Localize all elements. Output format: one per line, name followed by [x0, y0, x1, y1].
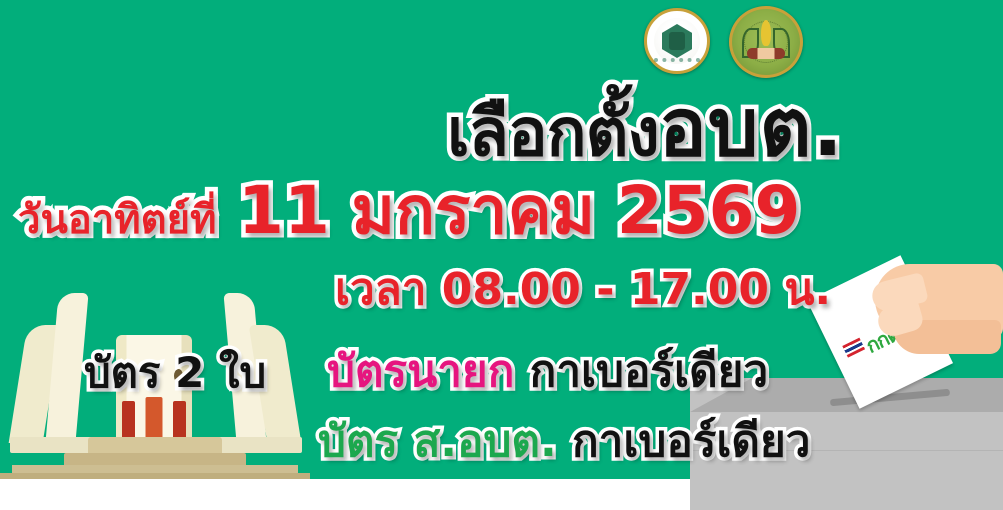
date-day-label: วันอาทิตย์ที่ — [18, 197, 216, 243]
election-poster: กกต เลือกตั้งอบต. วันอาทิตย์ที่ 11 มกราค… — [0, 0, 1003, 510]
time-unit: น. — [784, 264, 831, 315]
hand-illustration — [872, 258, 1003, 370]
monument-wing-base-left — [10, 437, 94, 453]
member-ballot-row: บัตร ส.อบต. กาเบอร์เดียว — [318, 420, 810, 464]
time-range: 08.00 - 17.00 — [442, 264, 769, 315]
mayor-ballot-row: บัตรนายก กาเบอร์เดียว — [327, 350, 768, 394]
election-commission-seal-icon — [644, 8, 710, 74]
headline-prefix: เลือกตั้ง — [447, 94, 659, 171]
member-ballot-instruction: กาเบอร์เดียว — [572, 416, 810, 467]
monument-door-center — [146, 397, 163, 439]
member-ballot-title: บัตร ส.อบต. — [318, 416, 557, 467]
date-year: 2569 — [617, 172, 801, 249]
date-day-number: 11 — [238, 172, 330, 249]
headline-subject: อบต. — [659, 81, 844, 174]
monument-door-left — [122, 401, 135, 439]
date-line: วันอาทิตย์ที่ 11 มกราคม 2569 — [18, 178, 800, 244]
sao-seal-icon — [729, 6, 803, 78]
mayor-ballot-title: บัตรนายก — [327, 346, 514, 397]
headline: เลือกตั้งอบต. — [447, 88, 844, 168]
mayor-ballot-instruction: กาเบอร์เดียว — [530, 346, 768, 397]
ballot-count-label: บัตร 2 ใบ — [84, 352, 266, 394]
monument-wing-base-right — [218, 437, 302, 453]
time-label: เวลา — [335, 264, 426, 315]
bottom-white-strip — [0, 479, 690, 510]
date-month: มกราคม — [351, 172, 595, 249]
monument-wing-inner-left — [45, 293, 88, 443]
thai-flag-icon — [842, 338, 865, 358]
time-line: เวลา 08.00 - 17.00 น. — [335, 268, 831, 312]
monument-door-right — [173, 401, 186, 439]
